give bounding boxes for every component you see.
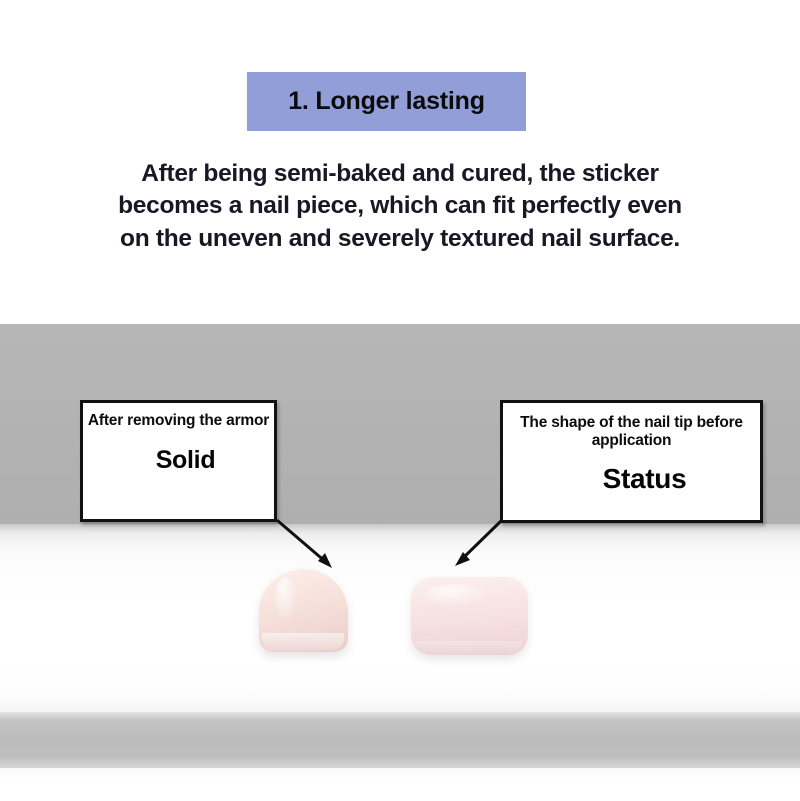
section-title-banner: 1. Longer lasting <box>247 72 526 131</box>
description-line-3: on the uneven and severely textured nail… <box>0 223 800 255</box>
header-section: 1. Longer lasting After being semi-baked… <box>0 0 800 324</box>
callout-right-value: Status <box>577 463 687 495</box>
infographic-page: 1. Longer lasting After being semi-baked… <box>0 0 800 801</box>
flat-nail-tip-sample <box>411 577 528 655</box>
callout-right-heading: The shape of the nail tip before applica… <box>509 414 754 451</box>
description-text: After being semi-baked and cured, the st… <box>0 158 800 255</box>
description-line-2: becomes a nail piece, which can fit perf… <box>0 190 800 222</box>
description-line-1: After being semi-baked and cured, the st… <box>0 158 800 190</box>
callout-left-heading: After removing the armor <box>88 412 270 430</box>
callout-left-value: Solid <box>142 446 216 475</box>
curved-nail-piece-sample <box>259 569 348 652</box>
photo-table-edge <box>0 712 800 770</box>
section-title-text: 1. Longer lasting <box>288 87 485 116</box>
callout-shape-before-application: The shape of the nail tip before applica… <box>500 400 763 523</box>
callout-after-removing-armor: After removing the armor Solid <box>80 400 277 522</box>
product-photo <box>0 324 800 801</box>
photo-table-surface <box>0 524 800 716</box>
photo-floor <box>0 768 800 801</box>
